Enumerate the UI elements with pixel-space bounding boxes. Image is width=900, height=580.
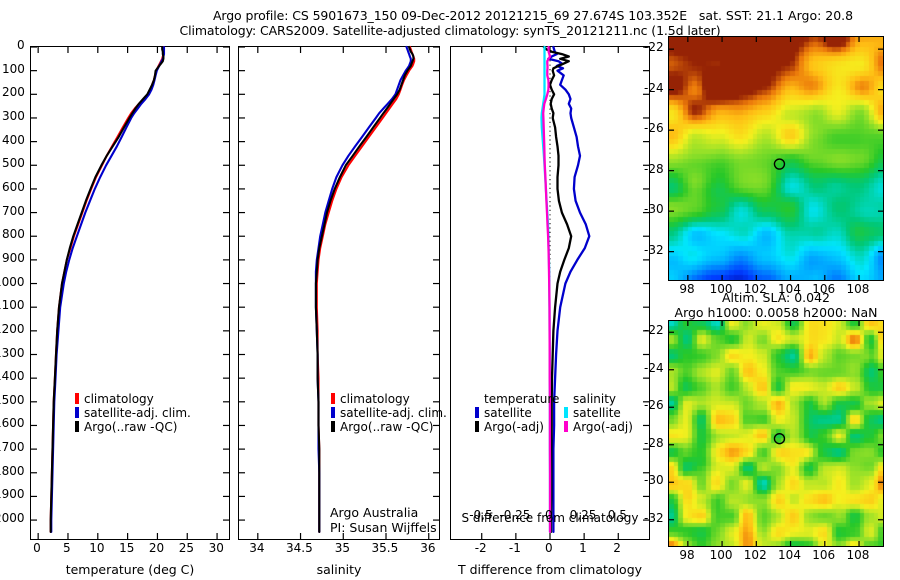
salinity-series-0 bbox=[317, 47, 414, 532]
x-tick-35: 35 bbox=[335, 541, 350, 555]
y-tick-600: 600 bbox=[2, 180, 25, 194]
difference-s-axis-label: S difference from climatology bbox=[450, 511, 650, 525]
y-tick--32: -32 bbox=[644, 511, 664, 525]
legend-label: Argo(..raw -QC) bbox=[84, 420, 177, 434]
legend-item: satellite bbox=[564, 406, 633, 420]
legend-item: climatology bbox=[331, 392, 447, 406]
x-tick-36: 36 bbox=[420, 541, 435, 555]
y-tick--22: -22 bbox=[644, 323, 664, 337]
x-tick-98: 98 bbox=[679, 548, 694, 562]
salinity-series-2 bbox=[316, 47, 414, 532]
x-tick-35.5: 35.5 bbox=[372, 541, 399, 555]
legend-item: climatology bbox=[75, 392, 191, 406]
legend-item: Argo(-adj) bbox=[564, 420, 633, 434]
sla-title-line-2: Argo h1000: 0.0058 h2000: NaN bbox=[660, 305, 892, 320]
sla-map-axes bbox=[668, 320, 884, 547]
legend-swatch bbox=[75, 393, 79, 404]
legend-item: Argo(..raw -QC) bbox=[331, 420, 447, 434]
temperature-profile-axes bbox=[30, 46, 230, 540]
salinity-profile-axes bbox=[238, 46, 440, 540]
difference-series-0 bbox=[548, 47, 589, 532]
y-tick--26: -26 bbox=[644, 121, 664, 135]
legend-swatch bbox=[475, 407, 479, 418]
x-tick-30: 30 bbox=[209, 541, 224, 555]
temperature-series-2 bbox=[51, 47, 164, 532]
t-tick--1: -1 bbox=[509, 541, 521, 555]
legend-swatch bbox=[331, 393, 335, 404]
t-tick-2: 2 bbox=[613, 541, 621, 555]
x-tick-34: 34 bbox=[249, 541, 264, 555]
sst-map-title: sat. SST: 21.1 Argo: 20.8 bbox=[668, 8, 884, 23]
y-tick-800: 800 bbox=[2, 227, 25, 241]
legend-item: Argo(-adj) bbox=[475, 420, 559, 434]
y-tick-200: 200 bbox=[2, 85, 25, 99]
temperature-series-0 bbox=[51, 47, 164, 532]
legend-item: satellite-adj. clim. bbox=[331, 406, 447, 420]
y-tick--24: -24 bbox=[644, 81, 664, 95]
sla-title-line-1: Altim. SLA: 0.042 bbox=[660, 290, 892, 305]
x-tick-104: 104 bbox=[778, 548, 801, 562]
sla-map-title: Altim. SLA: 0.042 Argo h1000: 0.0058 h20… bbox=[660, 290, 892, 320]
difference-profile-axes bbox=[450, 46, 650, 540]
y-tick-1500: 1500 bbox=[0, 393, 25, 407]
y-tick-1700: 1700 bbox=[0, 440, 25, 454]
legend-label: satellite-adj. clim. bbox=[84, 406, 191, 420]
y-tick--28: -28 bbox=[644, 436, 664, 450]
y-tick--22: -22 bbox=[644, 40, 664, 54]
difference-series-1 bbox=[544, 47, 571, 532]
y-tick-900: 900 bbox=[2, 251, 25, 265]
legend-label: satellite-adj. clim. bbox=[340, 406, 447, 420]
y-tick--30: -30 bbox=[644, 473, 664, 487]
legend-heading: temperature bbox=[475, 392, 559, 406]
legend-swatch bbox=[75, 407, 79, 418]
legend-label: Argo(-adj) bbox=[573, 420, 633, 434]
legend-heading: salinity bbox=[564, 392, 633, 406]
y-tick-700: 700 bbox=[2, 204, 25, 218]
legend-label: Argo(-adj) bbox=[484, 420, 544, 434]
y-tick-1400: 1400 bbox=[0, 369, 25, 383]
x-tick-102: 102 bbox=[744, 548, 767, 562]
y-tick-500: 500 bbox=[2, 156, 25, 170]
x-tick-5: 5 bbox=[63, 541, 71, 555]
difference-series-3 bbox=[543, 47, 550, 532]
legend-swatch bbox=[331, 407, 335, 418]
legend-label: Argo(..raw -QC) bbox=[340, 420, 433, 434]
t-tick-0: 0 bbox=[545, 541, 553, 555]
y-tick--30: -30 bbox=[644, 202, 664, 216]
profile-location-marker bbox=[774, 159, 784, 169]
legend-item: Argo(..raw -QC) bbox=[75, 420, 191, 434]
legend-swatch bbox=[331, 421, 335, 432]
y-tick-300: 300 bbox=[2, 109, 25, 123]
y-tick-2000: 2000 bbox=[0, 511, 25, 525]
legend-label: satellite bbox=[484, 406, 532, 420]
t-tick--2: -2 bbox=[475, 541, 487, 555]
y-tick--24: -24 bbox=[644, 361, 664, 375]
salinity-legend: climatology satellite-adj. clim. Argo(..… bbox=[331, 392, 447, 434]
y-tick--26: -26 bbox=[644, 398, 664, 412]
x-tick-106: 106 bbox=[812, 548, 835, 562]
x-tick-34.5: 34.5 bbox=[286, 541, 313, 555]
temperature-series-1 bbox=[51, 47, 164, 532]
sst-map-axes bbox=[668, 36, 884, 281]
y-tick-1600: 1600 bbox=[0, 416, 25, 430]
salinity-x-axis-label: salinity bbox=[238, 562, 440, 577]
y-tick-1000: 1000 bbox=[0, 275, 25, 289]
y-tick-0: 0 bbox=[17, 38, 25, 52]
y-tick-100: 100 bbox=[2, 62, 25, 76]
x-tick-25: 25 bbox=[179, 541, 194, 555]
y-tick-1100: 1100 bbox=[0, 298, 25, 312]
legend-item: satellite-adj. clim. bbox=[75, 406, 191, 420]
x-tick-108: 108 bbox=[847, 548, 870, 562]
profile-location-marker bbox=[774, 434, 784, 444]
legend-swatch bbox=[564, 421, 568, 432]
annotation-line-2: PI: Susan Wijffels bbox=[330, 520, 437, 535]
difference-legend-temperature: temperature satellite Argo(-adj) bbox=[475, 392, 559, 434]
t-tick-1: 1 bbox=[579, 541, 587, 555]
x-tick-15: 15 bbox=[119, 541, 134, 555]
annotation-line-1: Argo Australia bbox=[330, 505, 437, 520]
x-tick-100: 100 bbox=[710, 548, 733, 562]
y-tick-1800: 1800 bbox=[0, 464, 25, 478]
temperature-legend: climatology satellite-adj. clim. Argo(..… bbox=[75, 392, 191, 434]
y-tick--28: -28 bbox=[644, 162, 664, 176]
x-tick-0: 0 bbox=[33, 541, 41, 555]
temperature-x-axis-label: temperature (deg C) bbox=[30, 562, 230, 577]
legend-swatch bbox=[475, 421, 479, 432]
y-tick-1300: 1300 bbox=[0, 346, 25, 360]
legend-label: climatology bbox=[340, 392, 410, 406]
difference-t-axis-label: T difference from climatology bbox=[450, 562, 650, 577]
legend-swatch bbox=[75, 421, 79, 432]
y-tick-1900: 1900 bbox=[0, 487, 25, 501]
x-tick-20: 20 bbox=[149, 541, 164, 555]
y-tick--32: -32 bbox=[644, 243, 664, 257]
legend-label: satellite bbox=[573, 406, 621, 420]
y-tick-1200: 1200 bbox=[0, 322, 25, 336]
legend-item: satellite bbox=[475, 406, 559, 420]
y-tick-400: 400 bbox=[2, 133, 25, 147]
x-tick-10: 10 bbox=[89, 541, 104, 555]
salinity-series-1 bbox=[316, 47, 411, 532]
difference-legend-salinity: salinity satellite Argo(-adj) bbox=[564, 392, 633, 434]
legend-label: climatology bbox=[84, 392, 154, 406]
salinity-annotation: Argo Australia PI: Susan Wijffels bbox=[330, 505, 437, 535]
legend-swatch bbox=[564, 407, 568, 418]
